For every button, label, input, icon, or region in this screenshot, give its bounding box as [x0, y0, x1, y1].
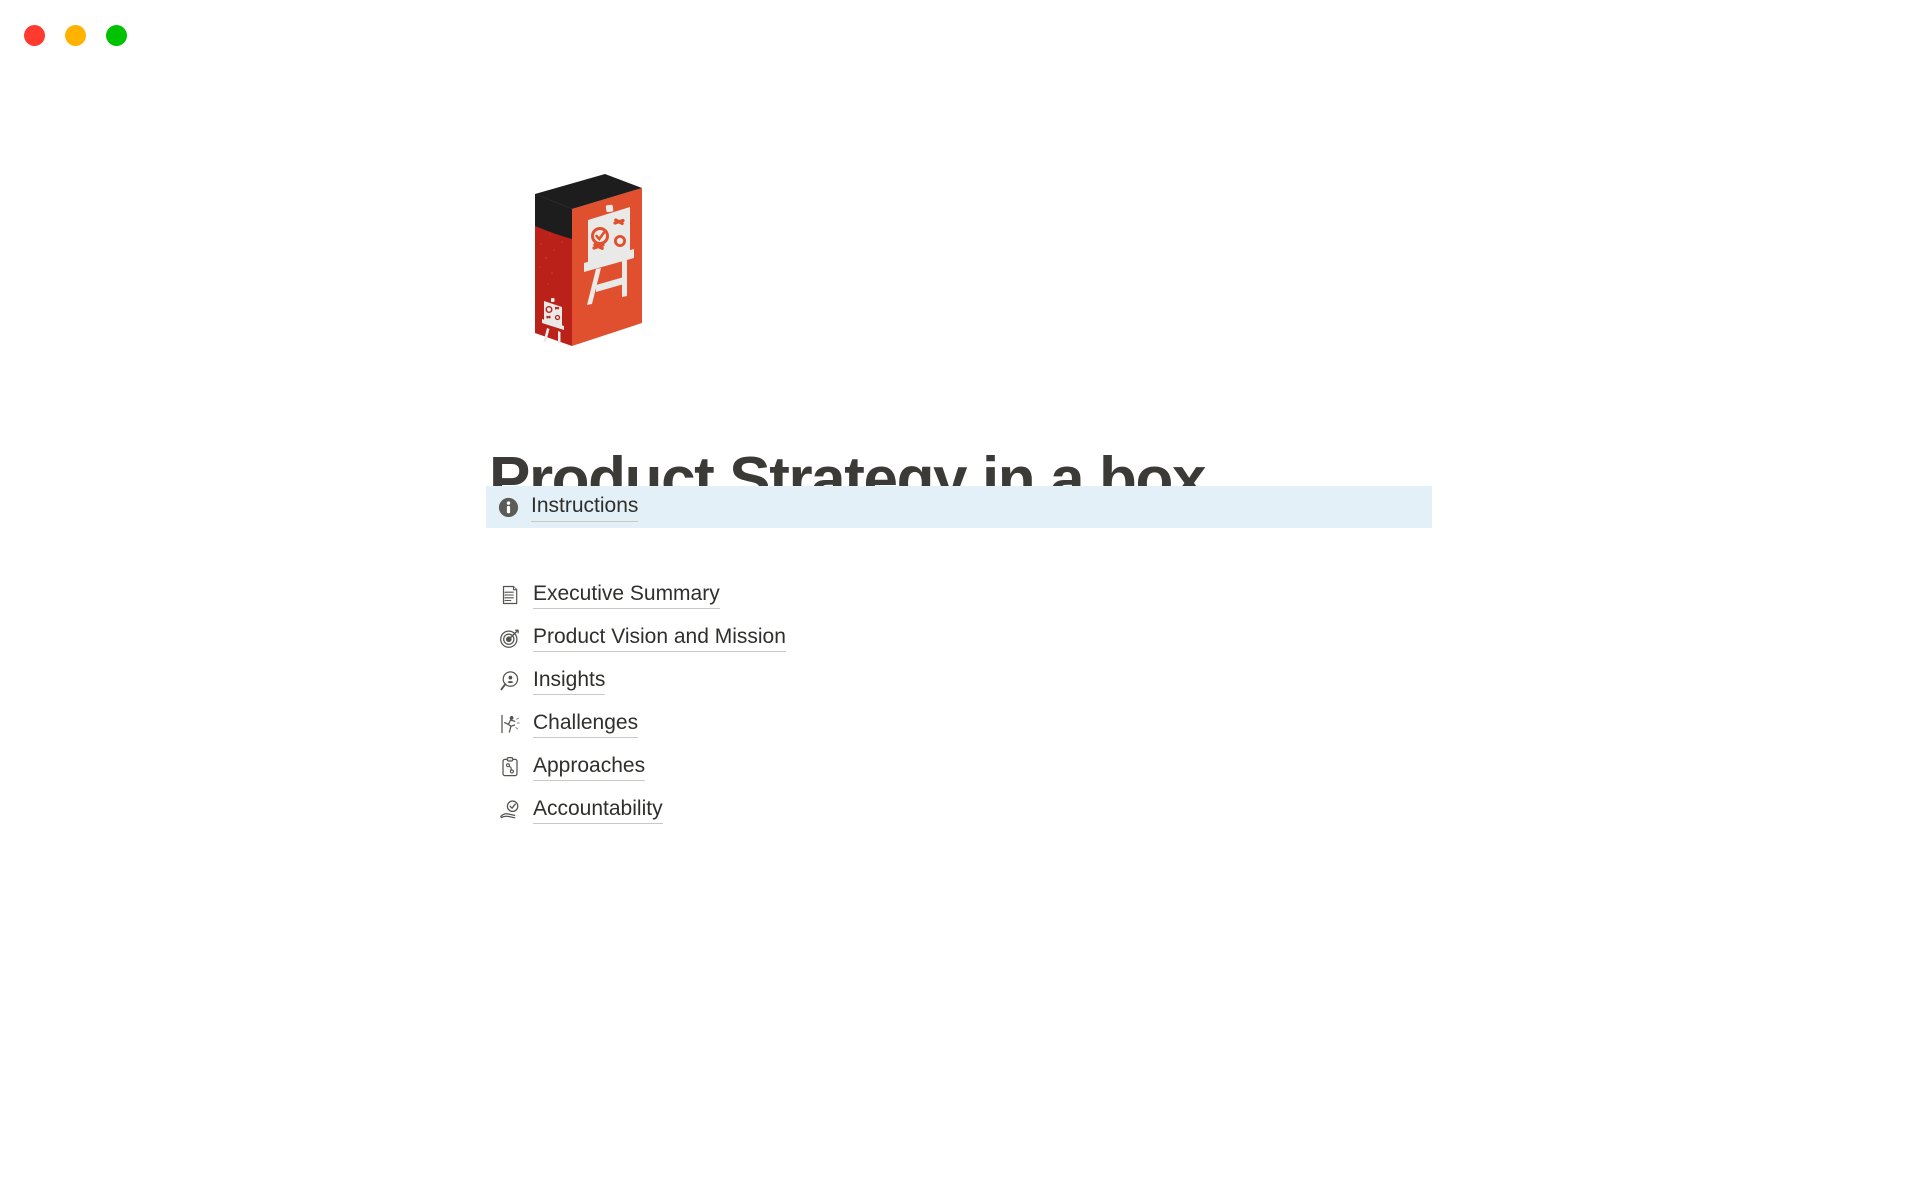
zoom-button[interactable] [106, 25, 127, 46]
link-accountability[interactable]: Accountability [498, 788, 1198, 831]
link-label: Approaches [533, 752, 645, 781]
app-window: Product Strategy in a box Instructions [0, 0, 1920, 1200]
link-label: Challenges [533, 709, 638, 738]
product-strategy-box-icon [510, 172, 660, 347]
instructions-link-label: Instructions [531, 492, 638, 522]
instructions-callout[interactable]: Instructions [486, 486, 1432, 528]
window-controls [24, 25, 127, 46]
link-label: Executive Summary [533, 580, 720, 609]
info-icon [497, 496, 519, 518]
page-link-list: Executive Summary Product Vision and Mis… [498, 573, 1198, 831]
link-insights[interactable]: Insights [498, 659, 1198, 702]
hand-check-icon [498, 798, 522, 822]
document-list-icon [498, 583, 522, 607]
link-product-vision-and-mission[interactable]: Product Vision and Mission [498, 616, 1198, 659]
link-executive-summary[interactable]: Executive Summary [498, 573, 1198, 616]
clipboard-icon [498, 755, 522, 779]
window-titlebar [0, 0, 1920, 62]
close-button[interactable] [24, 25, 45, 46]
magnifying-glass-idea-icon [498, 669, 522, 693]
link-label: Product Vision and Mission [533, 623, 786, 652]
climber-icon [498, 712, 522, 736]
link-label: Accountability [533, 795, 663, 824]
link-approaches[interactable]: Approaches [498, 745, 1198, 788]
link-challenges[interactable]: Challenges [498, 702, 1198, 745]
link-label: Insights [533, 666, 605, 695]
minimize-button[interactable] [65, 25, 86, 46]
dart-target-icon [498, 626, 522, 650]
